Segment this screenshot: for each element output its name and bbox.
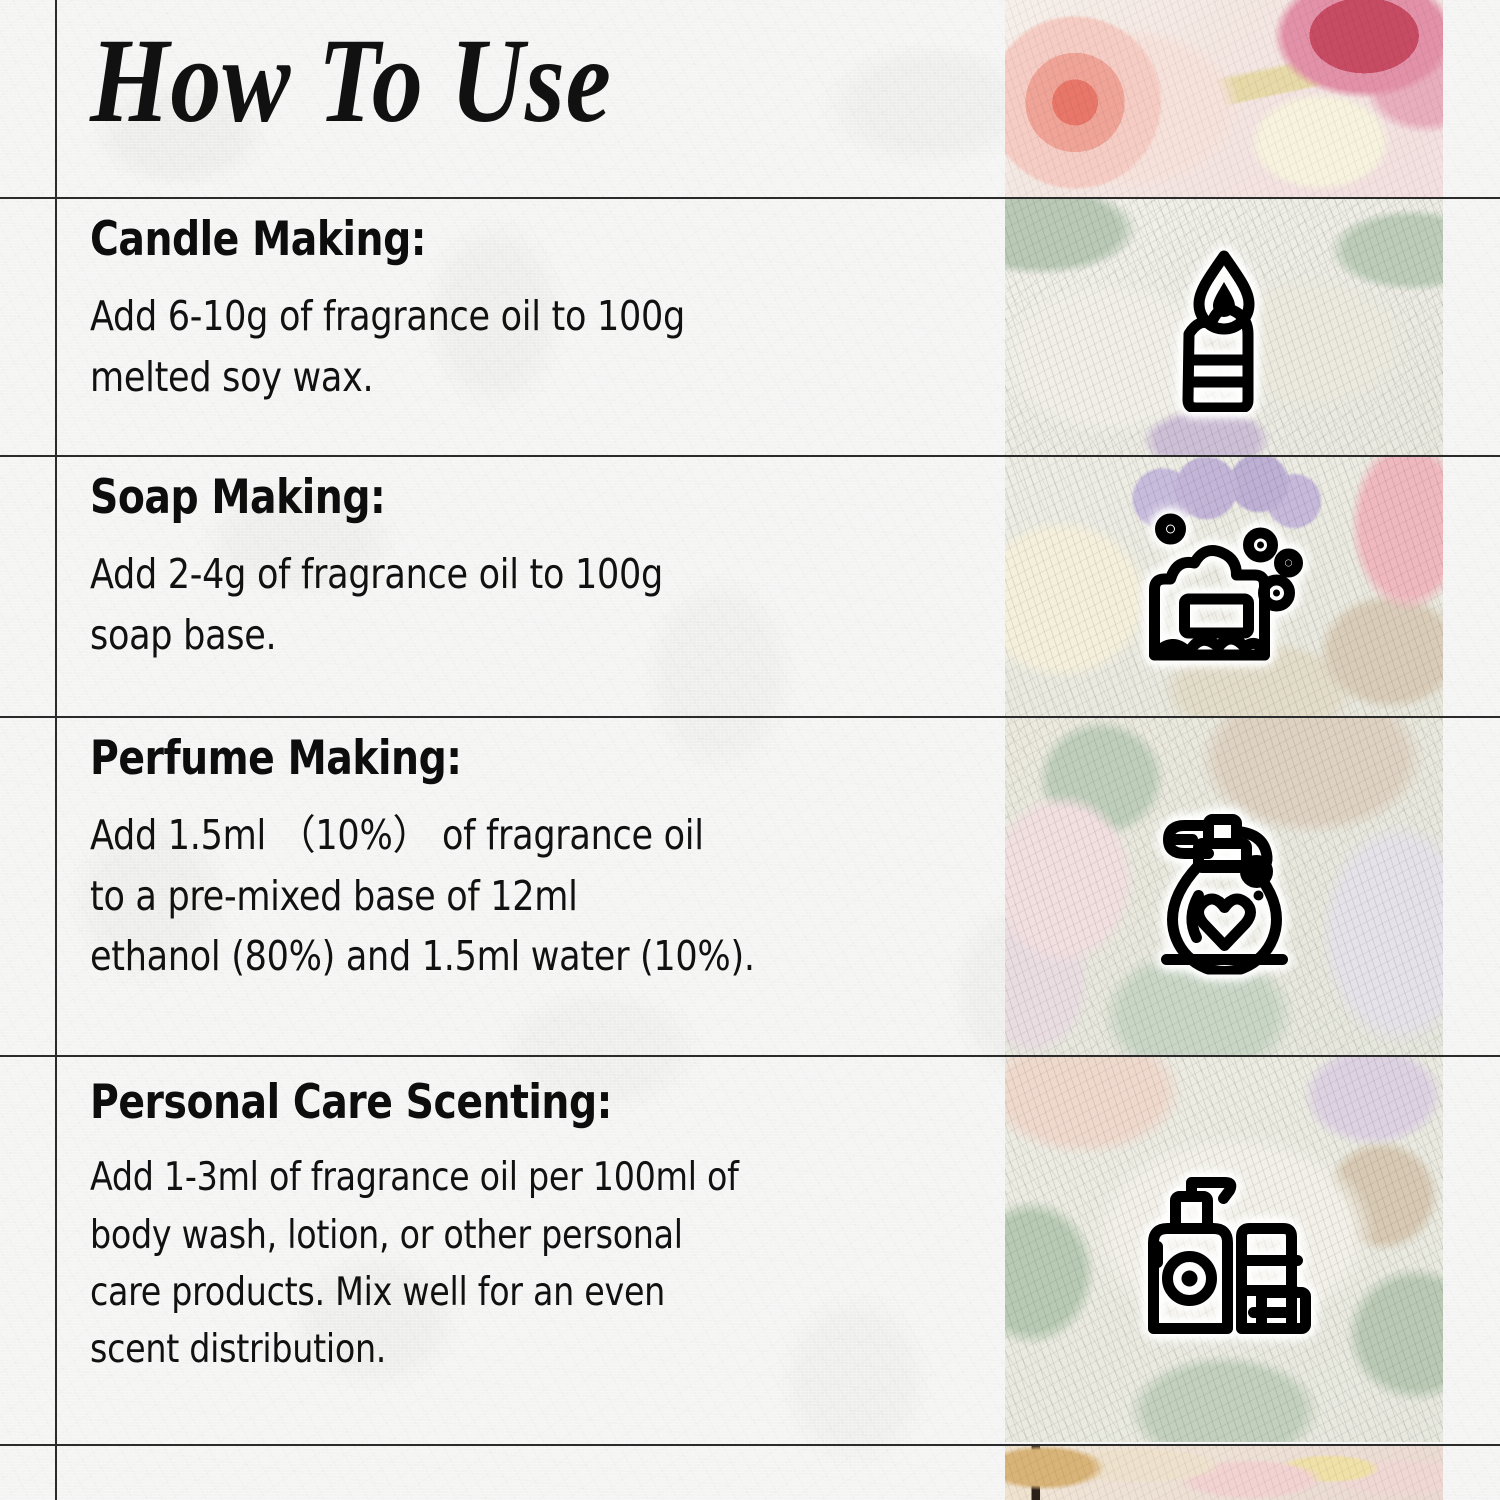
section-body-soap: Add 2-4g of fragrance oil to 100g soap b… [90, 544, 956, 665]
lotion-bottle-icon [1132, 1162, 1317, 1337]
body-line: care products. Mix well for an even [90, 1264, 956, 1321]
wood-and-rose-photo [1005, 1446, 1443, 1500]
section-soap: Soap Making: Add 2-4g of fragrance oil t… [57, 473, 1002, 665]
body-line: to a pre-mixed base of 12ml [90, 866, 956, 926]
section-body-perfume: Add 1.5ml （10%） of fragrance oil to a pr… [90, 805, 956, 986]
section-candle: Candle Making: Add 6-10g of fragrance oi… [57, 215, 1002, 407]
image-cell-perfume [1005, 718, 1443, 1055]
section-heading-personal-care: Personal Care Scenting: [90, 1078, 938, 1127]
body-line: ethanol (80%) and 1.5ml water (10%). [90, 926, 956, 986]
section-heading-candle: Candle Making: [90, 215, 938, 264]
candle-icon [1149, 242, 1299, 412]
section-personal-care: Personal Care Scenting: Add 1-3ml of fra… [57, 1078, 1002, 1379]
page-title: How To Use [90, 22, 1002, 142]
image-cell-personal-care [1005, 1057, 1443, 1442]
roses-and-soap-photo [1005, 0, 1443, 197]
body-line: soap base. [90, 605, 956, 665]
perfume-bottle-icon [1137, 799, 1312, 974]
image-cell-wood-and-rose [1005, 1446, 1443, 1500]
body-line: melted soy wax. [90, 347, 956, 407]
section-heading-soap: Soap Making: [90, 473, 938, 522]
image-cell-roses-and-soap [1005, 0, 1443, 197]
body-line: Add 6-10g of fragrance oil to 100g [90, 286, 956, 346]
body-line: Add 1-3ml of fragrance oil per 100ml of [90, 1149, 956, 1206]
title-row: How To Use [57, 40, 1002, 197]
body-line: body wash, lotion, or other personal [90, 1207, 956, 1264]
section-body-personal-care: Add 1-3ml of fragrance oil per 100ml of … [90, 1149, 956, 1378]
body-line: Add 2-4g of fragrance oil to 100g [90, 544, 956, 604]
body-line: Add 1.5ml （10%） of fragrance oil [90, 805, 956, 865]
how-to-use-panel: How To Use Candle Making: Add 6-10g of f… [0, 0, 1500, 1500]
image-cell-candle [1005, 199, 1443, 455]
image-cell-soap [1005, 457, 1443, 716]
body-line: scent distribution. [90, 1321, 956, 1378]
section-body-candle: Add 6-10g of fragrance oil to 100g melte… [90, 286, 956, 407]
soap-bar-icon [1137, 507, 1312, 667]
section-perfume: Perfume Making: Add 1.5ml （10%） of fragr… [57, 734, 1002, 986]
section-heading-perfume: Perfume Making: [90, 734, 938, 783]
